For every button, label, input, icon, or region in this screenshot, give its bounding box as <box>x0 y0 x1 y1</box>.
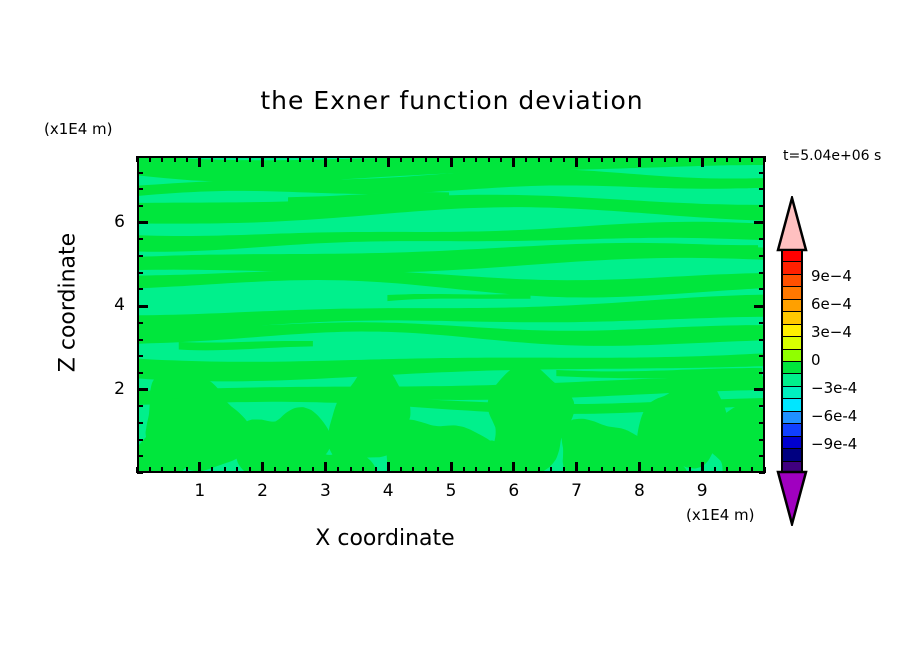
x-minor-tick-top <box>186 156 188 162</box>
x-minor-tick-top <box>475 156 477 162</box>
y-minor-tick-right <box>759 172 765 174</box>
x-minor-tick <box>613 467 615 473</box>
x-major-tick-top <box>701 156 704 167</box>
x-minor-tick <box>726 467 728 473</box>
x-minor-tick-top <box>400 156 402 162</box>
x-minor-tick <box>149 467 151 473</box>
x-minor-tick-top <box>726 156 728 162</box>
x-major-tick <box>575 462 578 473</box>
x-minor-tick-top <box>249 156 251 162</box>
colorbar-tick-label: 0 <box>811 351 821 369</box>
x-minor-tick-top <box>550 156 552 162</box>
y-minor-tick <box>137 339 143 341</box>
x-minor-tick-top <box>488 156 490 162</box>
x-minor-tick <box>249 467 251 473</box>
x-tick-label: 9 <box>682 481 722 501</box>
x-minor-tick-top <box>463 156 465 162</box>
x-major-tick-top <box>575 156 578 167</box>
x-minor-tick-top <box>563 156 565 162</box>
x-minor-tick-top <box>764 156 766 162</box>
colorbar-tick-label: −3e-4 <box>811 379 857 397</box>
colorbar-band <box>781 249 803 262</box>
x-minor-tick <box>676 467 678 473</box>
x-minor-tick-top <box>626 156 628 162</box>
plot-area <box>137 156 765 473</box>
y-minor-tick <box>137 272 143 274</box>
x-major-tick-top <box>261 156 264 167</box>
x-minor-tick <box>274 467 276 473</box>
y-minor-tick-right <box>759 238 765 240</box>
x-minor-tick <box>475 467 477 473</box>
x-minor-tick <box>601 467 603 473</box>
chart-canvas: the Exner function deviation (x1E4 m) (x… <box>0 0 904 654</box>
x-minor-tick-top <box>664 156 666 162</box>
x-major-tick-top <box>324 156 327 167</box>
y-axis-title: Z coordinate <box>56 173 81 433</box>
x-minor-tick-top <box>337 156 339 162</box>
x-minor-tick-top <box>500 156 502 162</box>
y-minor-tick-right <box>759 255 765 257</box>
y-major-tick-right <box>754 305 765 308</box>
y-axis-unit-label: (x1E4 m) <box>44 120 113 138</box>
x-minor-tick-top <box>312 156 314 162</box>
x-major-tick <box>512 462 515 473</box>
x-tick-label: 2 <box>243 481 283 501</box>
x-major-tick-top <box>512 156 515 167</box>
x-minor-tick-top <box>174 156 176 162</box>
x-minor-tick-top <box>412 156 414 162</box>
chart-title: the Exner function deviation <box>0 86 904 115</box>
x-major-tick-top <box>450 156 453 167</box>
x-minor-tick-top <box>601 156 603 162</box>
y-minor-tick-right <box>759 405 765 407</box>
colorbar-tick-label: 9e−4 <box>811 267 852 285</box>
x-minor-tick-top <box>714 156 716 162</box>
x-minor-tick <box>563 467 565 473</box>
x-tick-label: 5 <box>431 481 471 501</box>
y-minor-tick <box>137 188 143 190</box>
x-minor-tick-top <box>211 156 213 162</box>
x-major-tick <box>324 462 327 473</box>
y-minor-tick <box>137 439 143 441</box>
x-minor-tick-top <box>287 156 289 162</box>
y-minor-tick-right <box>759 205 765 207</box>
x-minor-tick-top <box>425 156 427 162</box>
x-minor-tick-top <box>149 156 151 162</box>
x-major-tick-top <box>387 156 390 167</box>
x-minor-tick-top <box>651 156 653 162</box>
x-minor-tick-top <box>274 156 276 162</box>
x-tick-label: 3 <box>305 481 345 501</box>
colorbar-tick-label: −9e-4 <box>811 435 857 453</box>
y-minor-tick-right <box>759 188 765 190</box>
x-tick-label: 8 <box>619 481 659 501</box>
x-major-tick <box>450 462 453 473</box>
y-minor-tick-right <box>759 439 765 441</box>
y-minor-tick-right <box>759 322 765 324</box>
x-minor-tick-top <box>676 156 678 162</box>
y-minor-tick <box>137 422 143 424</box>
colorbar-under-arrow <box>775 470 809 526</box>
contour-field <box>139 158 763 471</box>
x-minor-tick <box>174 467 176 473</box>
y-minor-tick <box>137 255 143 257</box>
y-minor-tick <box>137 355 143 357</box>
y-tick-label: 2 <box>89 379 125 399</box>
x-minor-tick <box>500 467 502 473</box>
x-minor-tick <box>463 467 465 473</box>
x-minor-tick <box>488 467 490 473</box>
y-minor-tick <box>137 455 143 457</box>
x-tick-label: 1 <box>180 481 220 501</box>
colorbar-tick-label: 6e−4 <box>811 295 852 313</box>
x-major-tick <box>261 462 264 473</box>
x-minor-tick <box>236 467 238 473</box>
x-minor-tick <box>714 467 716 473</box>
x-minor-tick-top <box>613 156 615 162</box>
x-minor-tick-top <box>375 156 377 162</box>
y-major-tick <box>137 305 148 308</box>
x-minor-tick <box>525 467 527 473</box>
y-minor-tick <box>137 172 143 174</box>
x-minor-tick <box>538 467 540 473</box>
x-minor-tick-top <box>236 156 238 162</box>
y-minor-tick <box>137 405 143 407</box>
x-minor-tick <box>161 467 163 473</box>
x-minor-tick-top <box>362 156 364 162</box>
x-minor-tick <box>550 467 552 473</box>
y-minor-tick <box>137 288 143 290</box>
x-major-tick <box>198 462 201 473</box>
x-minor-tick <box>337 467 339 473</box>
x-minor-tick-top <box>751 156 753 162</box>
x-minor-tick <box>626 467 628 473</box>
x-major-tick-top <box>198 156 201 167</box>
y-minor-tick <box>137 238 143 240</box>
y-major-tick <box>137 221 148 224</box>
time-annotation: t=5.04e+06 s <box>783 148 881 164</box>
x-major-tick <box>387 462 390 473</box>
x-major-tick <box>701 462 704 473</box>
colorbar-over-arrow <box>775 196 809 252</box>
y-minor-tick-right <box>759 339 765 341</box>
x-axis-unit-label: (x1E4 m) <box>686 506 755 524</box>
y-major-tick <box>137 388 148 391</box>
x-minor-tick <box>739 467 741 473</box>
x-minor-tick <box>400 467 402 473</box>
x-minor-tick-top <box>136 156 138 162</box>
y-minor-tick <box>137 372 143 374</box>
x-minor-tick <box>299 467 301 473</box>
x-minor-tick <box>412 467 414 473</box>
x-minor-tick-top <box>525 156 527 162</box>
y-minor-tick <box>137 472 143 474</box>
x-minor-tick-top <box>437 156 439 162</box>
x-minor-tick-top <box>224 156 226 162</box>
y-minor-tick-right <box>759 288 765 290</box>
y-minor-tick-right <box>759 472 765 474</box>
x-major-tick <box>638 462 641 473</box>
x-minor-tick-top <box>350 156 352 162</box>
x-minor-tick <box>287 467 289 473</box>
y-minor-tick-right <box>759 355 765 357</box>
x-tick-label: 6 <box>494 481 534 501</box>
x-minor-tick-top <box>689 156 691 162</box>
x-minor-tick <box>751 467 753 473</box>
x-minor-tick <box>437 467 439 473</box>
x-minor-tick <box>375 467 377 473</box>
x-tick-label: 4 <box>368 481 408 501</box>
x-major-tick-top <box>638 156 641 167</box>
y-minor-tick-right <box>759 372 765 374</box>
x-minor-tick-top <box>588 156 590 162</box>
x-minor-tick <box>224 467 226 473</box>
x-minor-tick-top <box>739 156 741 162</box>
y-minor-tick <box>137 205 143 207</box>
x-minor-tick <box>211 467 213 473</box>
colorbar <box>781 249 803 473</box>
y-minor-tick-right <box>759 422 765 424</box>
y-tick-label: 4 <box>89 295 125 315</box>
x-minor-tick-top <box>299 156 301 162</box>
x-minor-tick <box>689 467 691 473</box>
y-major-tick-right <box>754 388 765 391</box>
y-major-tick-right <box>754 221 765 224</box>
x-minor-tick <box>664 467 666 473</box>
y-tick-label: 6 <box>89 212 125 232</box>
colorbar-tick-label: 3e−4 <box>811 323 852 341</box>
x-minor-tick <box>350 467 352 473</box>
x-minor-tick <box>651 467 653 473</box>
y-minor-tick <box>137 322 143 324</box>
x-minor-tick <box>312 467 314 473</box>
x-axis-title: X coordinate <box>0 526 770 551</box>
y-minor-tick-right <box>759 455 765 457</box>
x-minor-tick <box>588 467 590 473</box>
x-minor-tick-top <box>161 156 163 162</box>
x-minor-tick <box>186 467 188 473</box>
x-minor-tick <box>425 467 427 473</box>
x-tick-label: 7 <box>557 481 597 501</box>
x-minor-tick-top <box>538 156 540 162</box>
y-minor-tick-right <box>759 272 765 274</box>
colorbar-tick-label: −6e-4 <box>811 407 857 425</box>
x-minor-tick <box>362 467 364 473</box>
